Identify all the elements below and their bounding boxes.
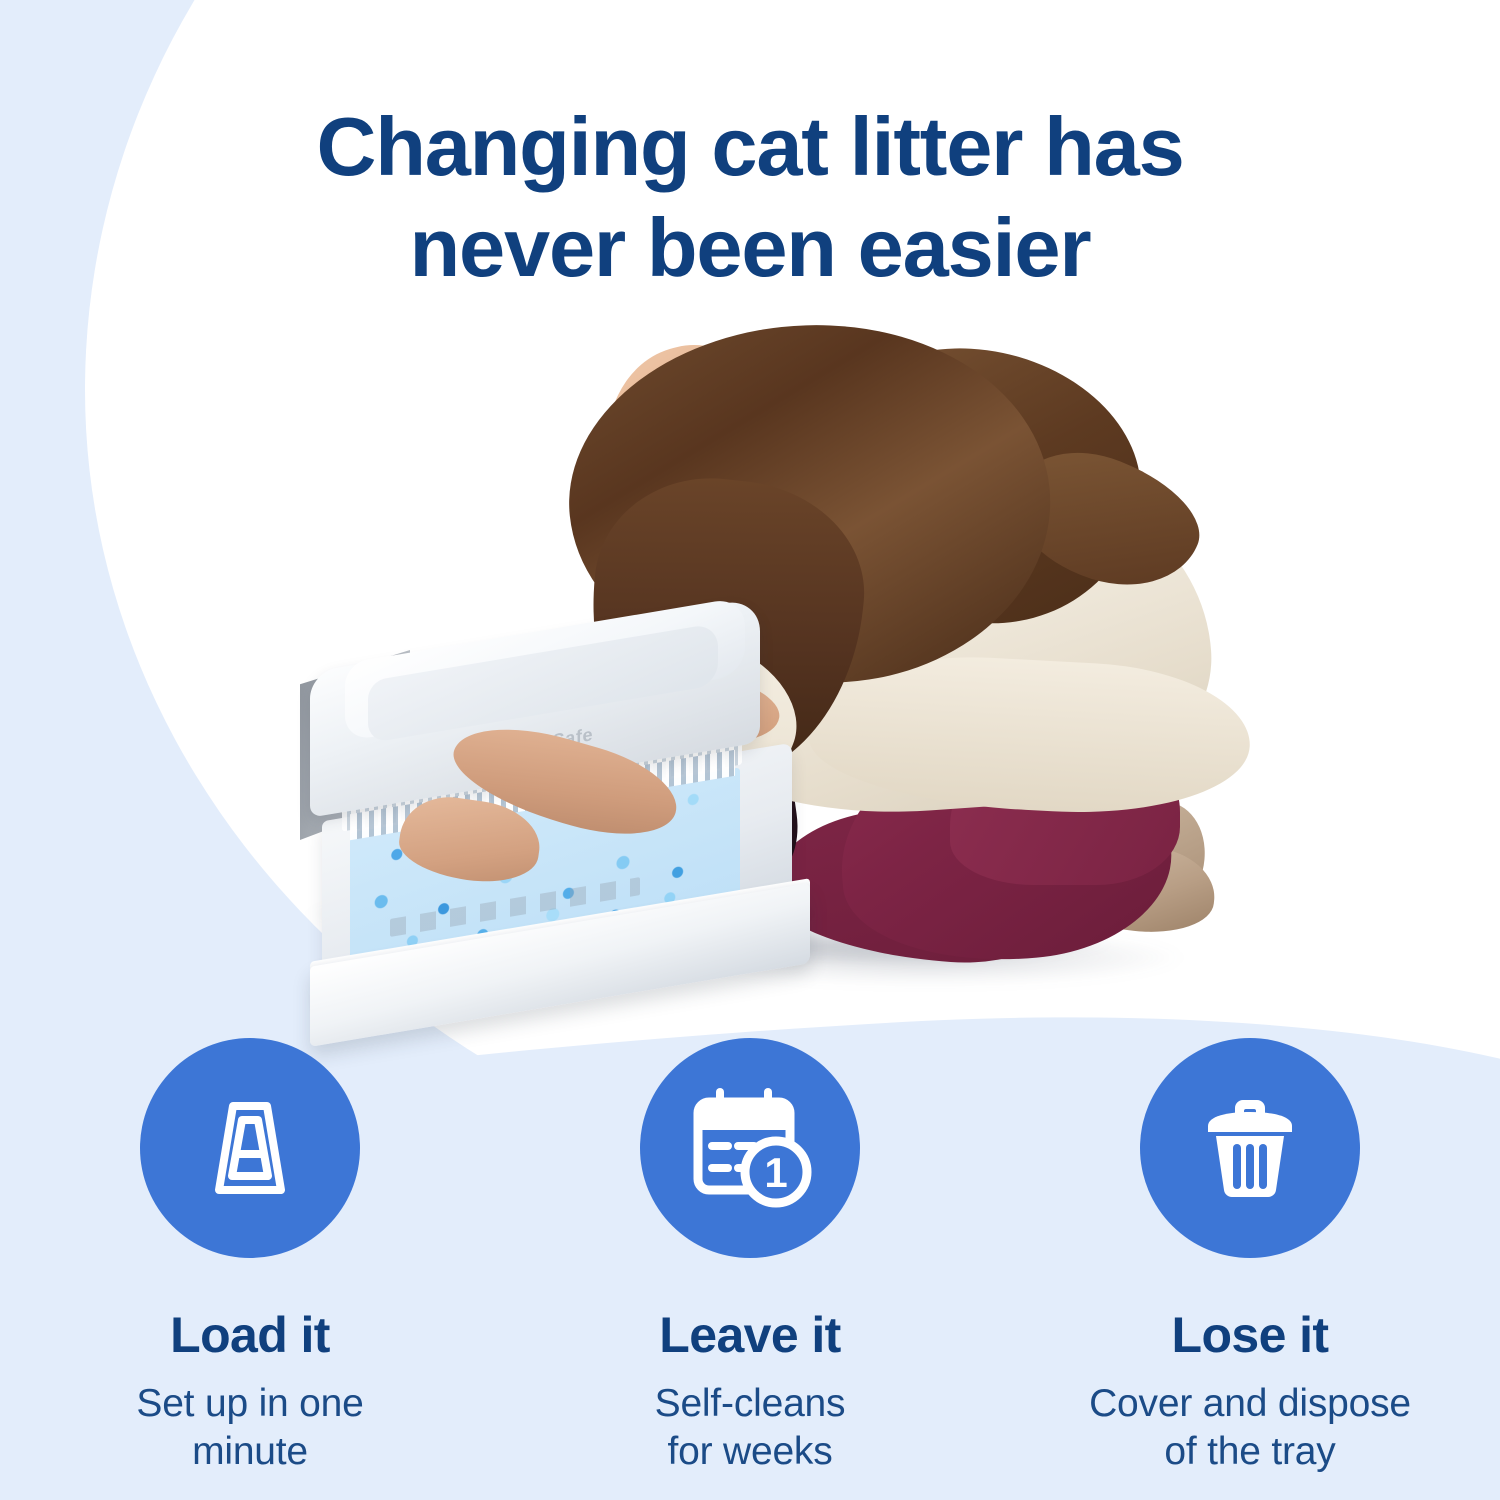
feature-lose-it: Lose it Cover and dispose of the tray [1000,1038,1500,1475]
calendar-badge-number: 1 [764,1149,787,1196]
feature-desc-line-1: Cover and dispose [1089,1380,1411,1428]
feature-desc-line-2: minute [136,1428,363,1476]
feature-desc-line-2: of the tray [1089,1428,1411,1476]
trash-can-icon [1188,1086,1312,1210]
feature-desc-line-2: for weeks [655,1428,846,1476]
page-headline: Changing cat litter has never been easie… [0,96,1500,299]
hero-photo: PetSafe [250,330,1280,1030]
feature-desc-line-1: Self-cleans [655,1380,846,1428]
feature-leave-it: 1 Leave it Self-cleans for weeks [500,1038,1000,1475]
feature-description: Self-cleans for weeks [655,1380,846,1475]
feature-load-it: Load it Set up in one minute [0,1038,500,1475]
calendar-one-icon: 1 [684,1086,816,1210]
headline-line-1: Changing cat litter has [316,100,1183,193]
feature-title: Load it [170,1310,330,1360]
headline-line-2: never been easier [0,197,1500,298]
feature-title: Lose it [1172,1310,1329,1360]
feature-icon-badge: 1 [640,1038,860,1258]
feature-row: Load it Set up in one minute [0,1038,1500,1475]
feature-icon-badge [1140,1038,1360,1258]
litter-tray-icon [188,1086,312,1210]
feature-title: Leave it [659,1310,840,1360]
marketing-infographic: Changing cat litter has never been easie… [0,0,1500,1500]
feature-description: Cover and dispose of the tray [1089,1380,1411,1475]
feature-desc-line-1: Set up in one [136,1380,363,1428]
feature-icon-badge [140,1038,360,1258]
feature-description: Set up in one minute [136,1380,363,1475]
